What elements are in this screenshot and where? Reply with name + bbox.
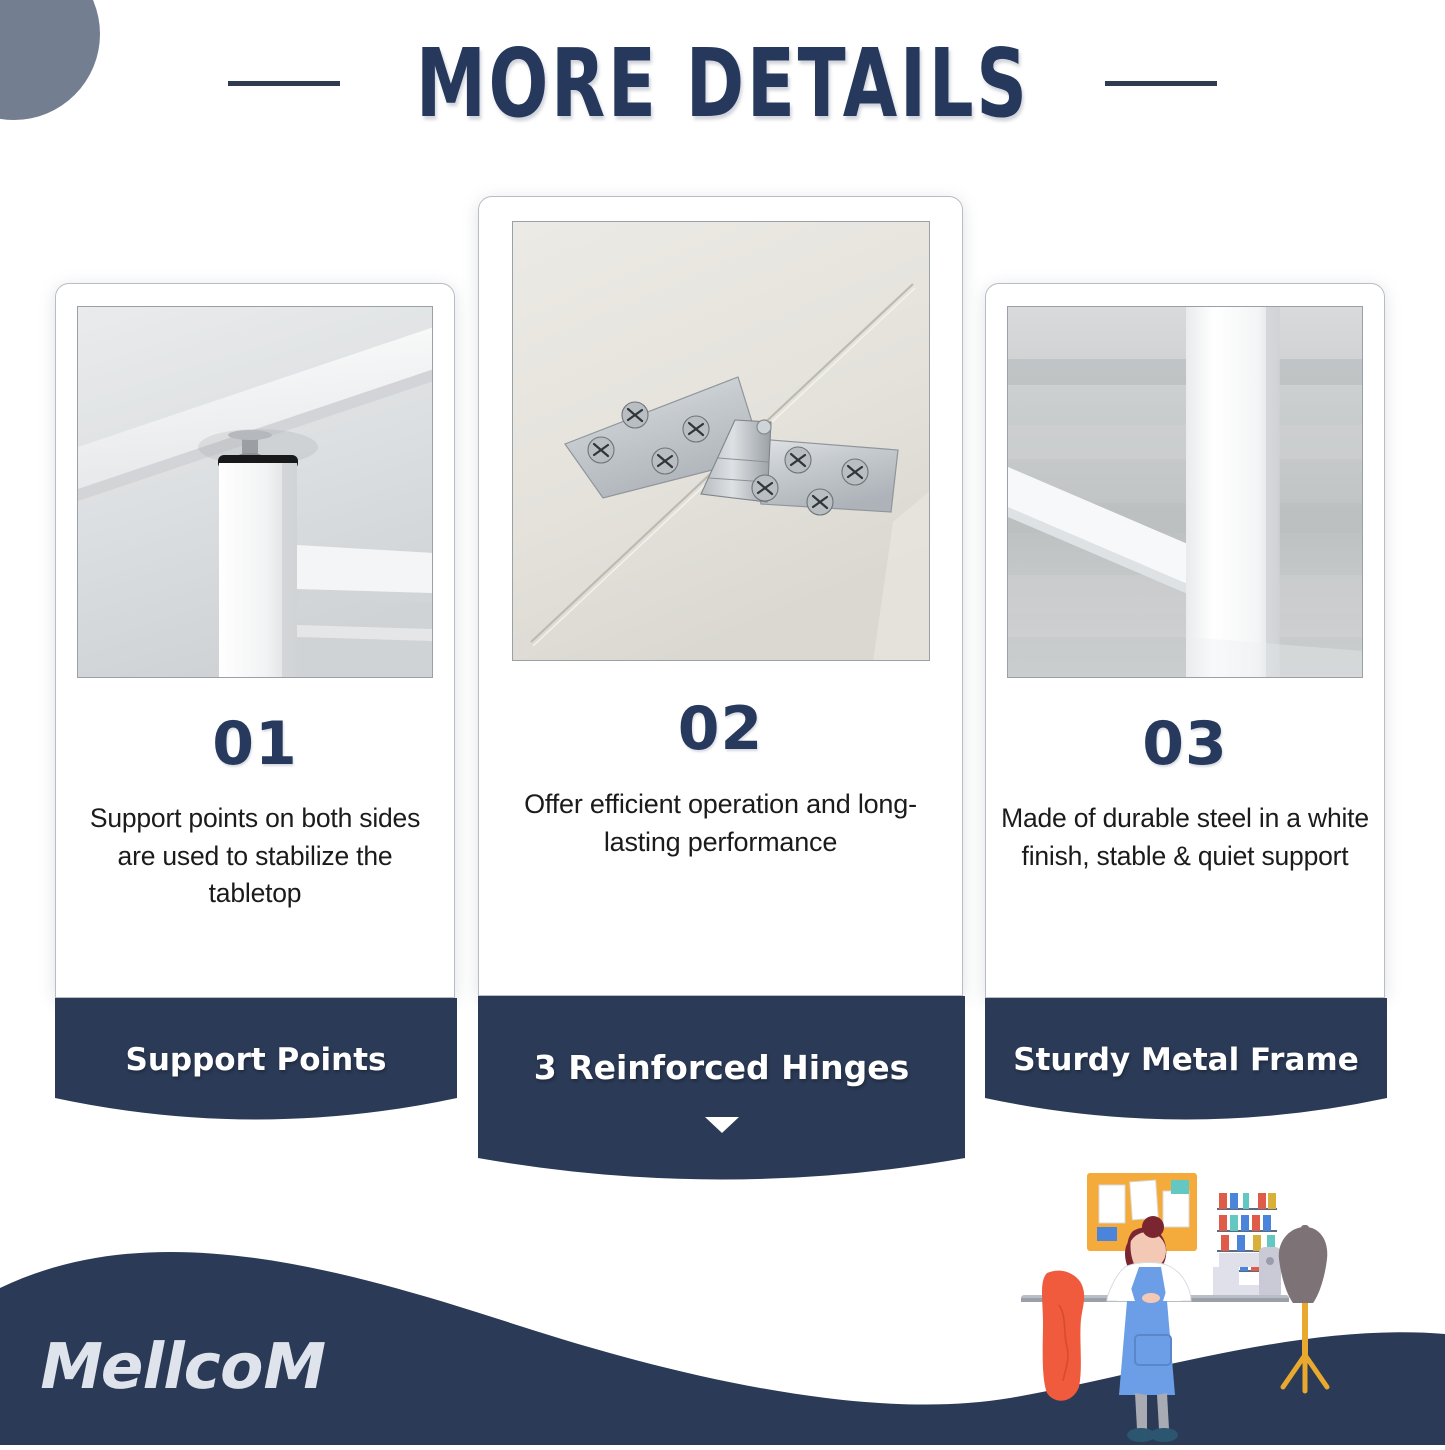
page-title: MORE DETAILS	[416, 28, 1030, 138]
card-banner-01[interactable]: Support Points	[55, 998, 457, 1138]
card-banner-label-02: 3 Reinforced Hinges	[534, 1048, 909, 1087]
page-header: MORE DETAILS	[0, 28, 1445, 138]
brand-logo: MellcoM	[33, 1330, 332, 1403]
chevron-down-icon[interactable]	[705, 1117, 739, 1133]
card-description-02: Offer efficient operation and long-lasti…	[493, 785, 947, 862]
feature-cards-row: 01 Support points on both sides are used…	[0, 0, 1445, 1180]
card-banner-label-03: Sturdy Metal Frame	[1013, 1042, 1358, 1078]
card-description-03: Made of durable steel in a white finish,…	[998, 800, 1372, 875]
card-banner-03[interactable]: Sturdy Metal Frame	[985, 998, 1387, 1138]
card-number-03: 03	[1142, 714, 1228, 774]
feature-card-01[interactable]: 01 Support points on both sides are used…	[55, 283, 455, 998]
seamstress-sewing-workshop-illustration	[975, 1155, 1445, 1445]
card-description-01: Support points on both sides are used to…	[68, 800, 442, 913]
feature-card-03[interactable]: 03 Made of durable steel in a white fini…	[985, 283, 1385, 998]
card-banner-label-01: Support Points	[126, 1042, 387, 1078]
white-metal-frame-leg-photo	[1007, 306, 1363, 678]
card-number-01: 01	[212, 714, 298, 774]
header-dash-right-icon	[1105, 81, 1217, 86]
table-leg-support-point-photo	[77, 306, 433, 678]
feature-card-02[interactable]: 02 Offer efficient operation and long-la…	[478, 196, 963, 996]
card-number-02: 02	[678, 699, 764, 759]
card-banner-02[interactable]: 3 Reinforced Hinges	[478, 996, 965, 1196]
header-dash-left-icon	[228, 81, 340, 86]
steel-hinge-closeup-photo	[512, 221, 930, 661]
